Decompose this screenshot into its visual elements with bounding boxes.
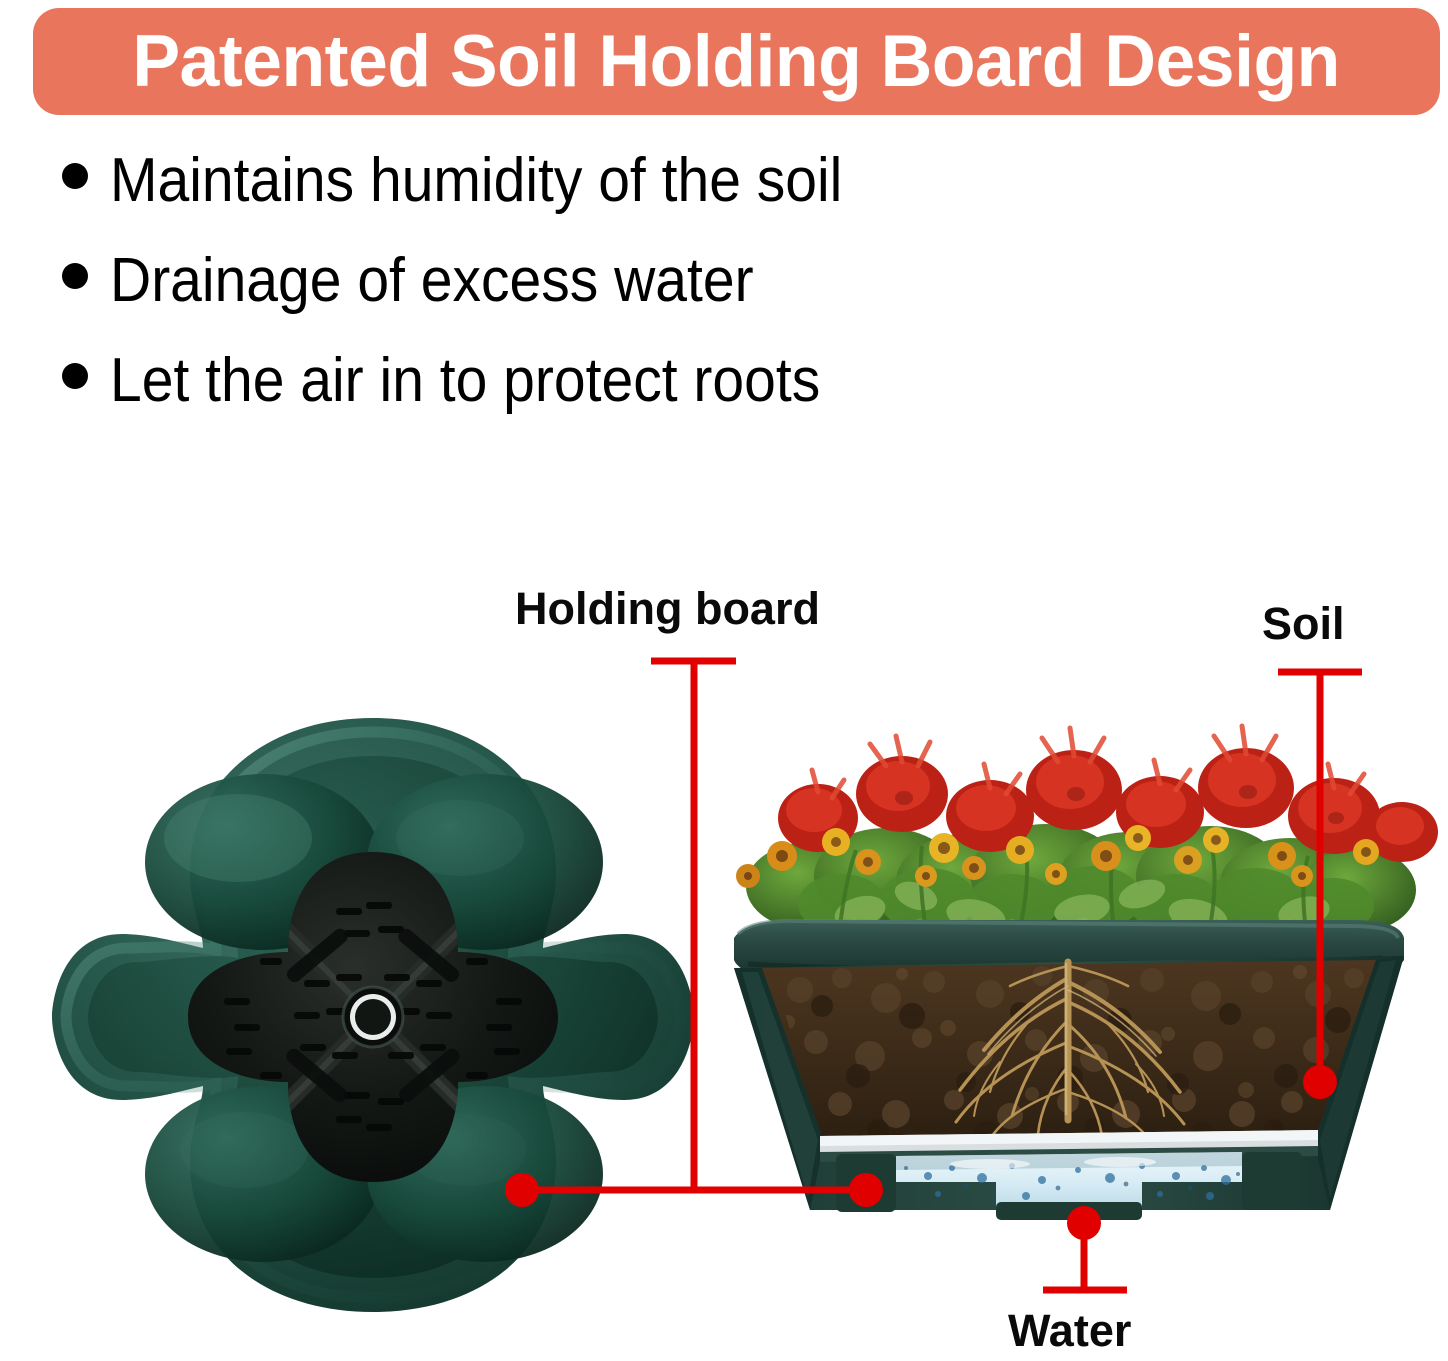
benefits-list: Maintains humidity of the soil Drainage … [62, 150, 1162, 450]
list-item: Maintains humidity of the soil [62, 150, 1162, 250]
bullet-icon [62, 163, 88, 189]
benefit-label: Drainage of excess water [110, 250, 754, 312]
top-down-planter-image [48, 712, 698, 1317]
benefit-label: Let the air in to protect roots [110, 350, 820, 412]
cross-section-image [690, 690, 1448, 1290]
plant-foliage [736, 726, 1438, 939]
page-title: Patented Soil Holding Board Design [133, 25, 1341, 98]
list-item: Drainage of excess water [62, 250, 1162, 350]
list-item: Let the air in to protect roots [62, 350, 1162, 450]
label-soil: Soil [1262, 598, 1345, 650]
header-banner: Patented Soil Holding Board Design [33, 8, 1440, 115]
label-holding-board: Holding board [515, 583, 820, 635]
bullet-icon [62, 363, 88, 389]
benefit-label: Maintains humidity of the soil [110, 150, 842, 212]
label-water: Water [1008, 1305, 1131, 1357]
bullet-icon [62, 263, 88, 289]
infographic-canvas: Patented Soil Holding Board Design Maint… [0, 0, 1448, 1361]
